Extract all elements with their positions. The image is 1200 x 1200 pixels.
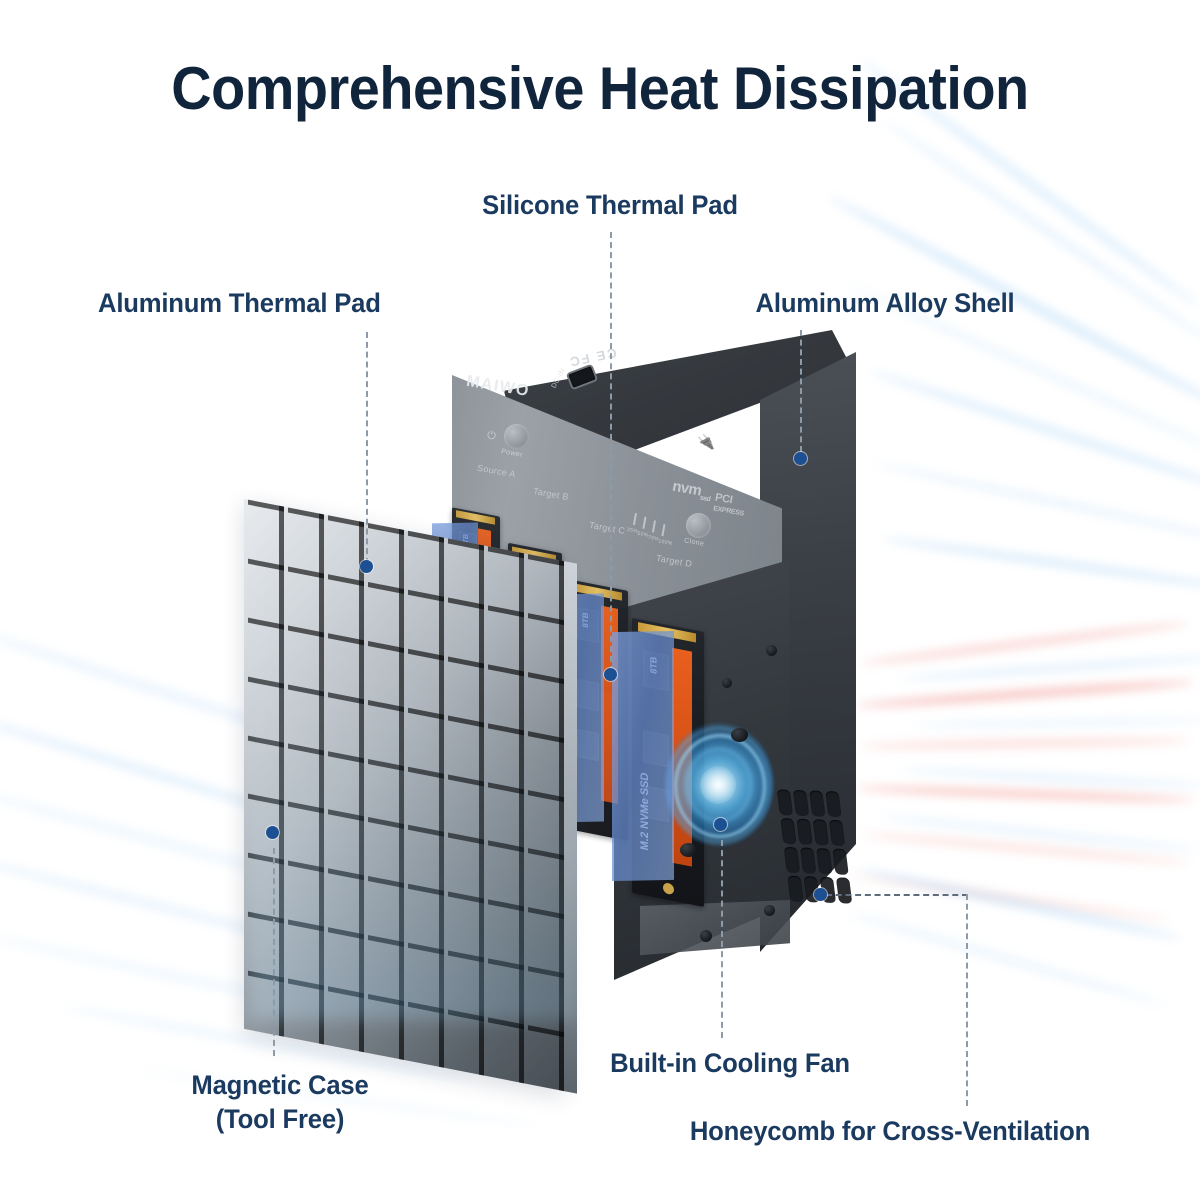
heatsink-fin: [244, 558, 284, 625]
screw: [766, 645, 777, 656]
callout-honeycomb: Honeycomb for Cross-Ventilation: [615, 1114, 1166, 1148]
heatsink-fin: [324, 632, 364, 699]
heatsink-fin: [364, 993, 404, 1060]
heatsink-fin: [244, 499, 284, 566]
heatsink-fin: [244, 617, 284, 684]
heatsink-fin: [244, 676, 284, 743]
screw: [722, 678, 732, 688]
nvme-logo-text: nvm: [671, 478, 703, 500]
infographic-canvas: Comprehensive Heat Dissipation MAIWO DC-…: [0, 0, 1200, 1200]
vent-slot: [816, 848, 832, 874]
vent-slot: [793, 790, 809, 816]
heatsink-fin: [324, 514, 364, 581]
vent-slot: [787, 876, 803, 902]
vent-slot: [836, 877, 852, 903]
vent-slot: [777, 789, 793, 815]
vent-slot: [813, 819, 829, 845]
heatsink-fin: [244, 970, 284, 1037]
heatsink-fin: [404, 1001, 444, 1068]
heatsink-fin: [444, 714, 484, 781]
heatsink-fin: [484, 958, 524, 1025]
screw: [700, 930, 712, 942]
vent-slot: [784, 847, 800, 873]
heatsink-fin: [404, 766, 444, 833]
certification-marks: CE FC: [567, 345, 618, 370]
heatsink-fin: [324, 986, 364, 1053]
vent-slot: [809, 790, 825, 816]
heatsink-fin: [444, 597, 484, 664]
heatsink-fin: [404, 589, 444, 656]
heatsink-fin: [444, 950, 484, 1017]
heatsink-fin: [484, 1017, 524, 1084]
heatsink-fin: [324, 927, 364, 994]
heatsink-fin: [364, 640, 404, 707]
heatsink-fin: [484, 781, 524, 848]
heatsink-fin: [244, 793, 284, 860]
heatsink-fin: [404, 707, 444, 774]
heatsink-fin: [524, 553, 564, 620]
screw: [764, 905, 775, 916]
anchor-dot-cooling-fan: [714, 818, 727, 831]
heatsink-fin: [284, 801, 324, 868]
heatsink-fin: [364, 876, 404, 943]
heatsink-fin: [284, 566, 324, 633]
callout-aluminum-alloy-shell: Aluminum Alloy Shell: [671, 286, 1099, 320]
heatsink-fin: [444, 656, 484, 723]
anchor-dot-silicone-thermal-pad: [604, 668, 617, 681]
heatsink-fin: [484, 722, 524, 789]
heatsink-fin: [404, 530, 444, 597]
heatsink-fin: [524, 730, 564, 797]
heatsink-fin: [364, 758, 404, 825]
heatsink-fin: [284, 624, 324, 691]
heatsink-fin: [524, 789, 564, 856]
anchor-dot-aluminum-thermal-pad: [360, 560, 373, 573]
power-button[interactable]: [504, 424, 529, 449]
magnetic-case-heatsink: [244, 499, 564, 1091]
callout-aluminum-thermal-pad: Aluminum Thermal Pad: [98, 286, 478, 320]
fan-mount-screw: [680, 843, 697, 857]
heatsink-fin: [284, 683, 324, 750]
anchor-dot-honeycomb: [814, 888, 827, 901]
heatsink-fin: [244, 911, 284, 978]
heatsink-fin: [244, 734, 284, 801]
usb-icon: 🔌: [695, 432, 717, 451]
exploded-product-illustration: MAIWO DC-IN CE FC ⏻ Power 🔌 Source A Tar…: [0, 0, 1200, 1200]
heatsink-fin: [484, 840, 524, 907]
heatsink-fin: [324, 691, 364, 758]
heatsink-fin: [444, 773, 484, 840]
heatsink-fin: [524, 848, 564, 915]
heatsink-fin: [524, 612, 564, 679]
heatsink-fin: [404, 824, 444, 891]
callout-cooling-fan: Built-in Cooling Fan: [531, 1046, 930, 1080]
heatsink-fin: [404, 883, 444, 950]
heatsink-fin: [444, 832, 484, 899]
heatsink-fin: [404, 648, 444, 715]
heatsink-fin: [484, 663, 524, 730]
vent-slot: [796, 819, 812, 845]
heatsink-fin: [324, 750, 364, 817]
callout-silicone-thermal-pad: Silicone Thermal Pad: [449, 188, 772, 222]
heatsink-fin: [284, 860, 324, 927]
heatsink-fin: [284, 742, 324, 809]
heatsink-fin: [364, 581, 404, 648]
heatsink-fin: [284, 919, 324, 986]
silicone-thermal-pad: [612, 619, 674, 893]
vent-slot: [780, 818, 796, 844]
anchor-dot-aluminum-alloy-shell: [794, 452, 807, 465]
anchor-dot-magnetic-case: [266, 826, 279, 839]
heatsink-right-edge: [564, 561, 577, 1094]
nvme-logo-sub: ssd: [699, 495, 710, 504]
fan-hub: [700, 766, 736, 804]
heatsink-fin: [364, 522, 404, 589]
vent-slot: [800, 847, 816, 873]
heatsink-fin: [484, 546, 524, 613]
heatsink-fin: [444, 1009, 484, 1076]
heatsink-fin: [524, 671, 564, 738]
heatsink-fin: [364, 699, 404, 766]
heatsink-fin: [324, 868, 364, 935]
heatsink-fin: [244, 852, 284, 919]
heatsink-fin: [444, 538, 484, 605]
heatsink-fin: [484, 604, 524, 671]
heatsink-fin: [364, 934, 404, 1001]
fan-mount-screw: [731, 728, 748, 742]
heatsink-fin-grid: [244, 499, 564, 1091]
heatsink-fin: [324, 573, 364, 640]
callout-magnetic-case: Magnetic Case (Tool Free): [100, 1068, 461, 1136]
heatsink-fin: [404, 942, 444, 1009]
pci-logo-text: PCI: [714, 491, 733, 506]
heatsink-fin: [444, 891, 484, 958]
clone-button[interactable]: [686, 513, 711, 538]
heatsink-fin: [284, 978, 324, 1045]
heatsink-fin: [484, 899, 524, 966]
heatsink-fin: [524, 966, 564, 1033]
heatsink-fin: [324, 809, 364, 876]
heatsink-fin: [364, 817, 404, 884]
heatsink-fin: [524, 907, 564, 974]
heatsink-fin: [284, 507, 324, 574]
